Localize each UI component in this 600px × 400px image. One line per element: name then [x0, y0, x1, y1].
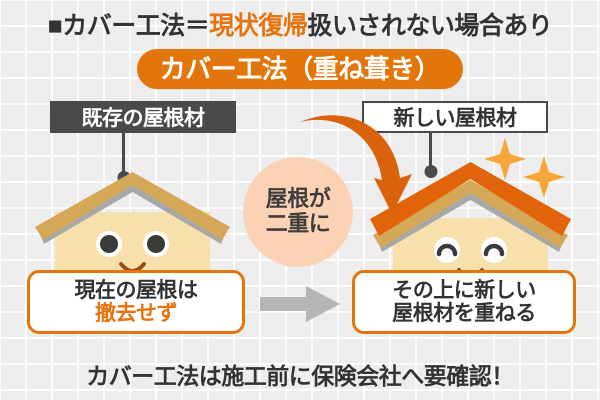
callout-box-left: 現在の屋根は 撤去せず — [27, 270, 245, 334]
sparkle-icon-2 — [523, 156, 565, 198]
center-note-text: 屋根が 二重に — [243, 157, 353, 267]
headline-bullet: ■ — [48, 12, 63, 40]
step-arrow-container — [258, 284, 342, 324]
callout-right-line1: その上に新しい — [392, 279, 536, 302]
callout-left-line1: 現在の屋根は — [75, 279, 198, 302]
label-existing-roof: 既存の屋根材 — [50, 101, 236, 133]
callout-left-line2: 撤去せず — [95, 302, 177, 325]
headline-highlight-text: 現状復帰 — [209, 12, 307, 40]
step-arrow-shape — [260, 286, 340, 322]
center-note-line2: 二重に — [266, 212, 331, 237]
page-title: ■カバー工法＝現状復帰扱いされない場合あり — [0, 6, 600, 42]
infographic-canvas: ■カバー工法＝現状復帰扱いされない場合あり カバー工法（重ね葺き） 既存の屋根材… — [0, 0, 600, 400]
label-existing-roof-text: 既存の屋根材 — [82, 102, 205, 132]
headline-post-text: 扱いされない場合あり — [307, 12, 552, 40]
headline-pre-text: カバー工法＝ — [62, 12, 209, 40]
center-note-line1: 屋根が — [266, 187, 331, 212]
callout-box-right: その上に新しい 屋根材を重ねる — [352, 270, 576, 334]
method-pill-label: カバー工法（重ね葺き） — [160, 56, 441, 82]
eye-pupil-left-1 — [100, 235, 118, 253]
footer-caption: カバー工法は施工前に保険会社へ要確認！ — [0, 357, 600, 391]
step-arrow-icon — [258, 284, 342, 324]
method-pill-badge: カバー工法（重ね葺き） — [137, 49, 463, 89]
callout-right-line2: 屋根材を重ねる — [392, 302, 536, 325]
eye-pupil-left-2 — [147, 235, 165, 253]
footer-caption-text: カバー工法は施工前に保険会社へ要確認！ — [86, 363, 514, 389]
